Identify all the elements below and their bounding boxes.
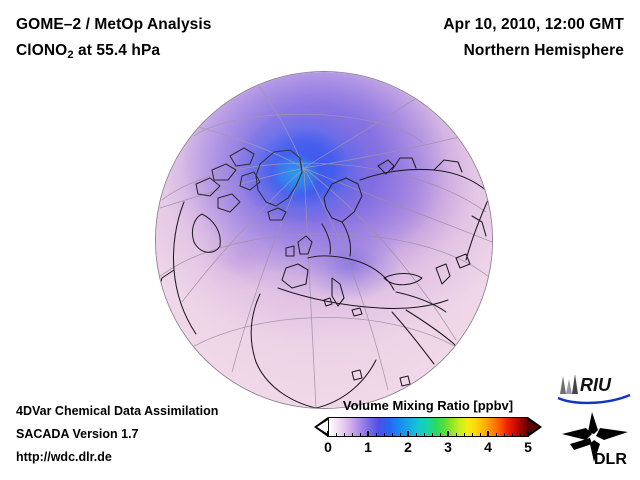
method-label: 4DVar Chemical Data Assimilation [16,404,218,418]
colorbar-tick-minor [392,433,393,437]
colorbar-tick-minor [496,433,497,437]
dlr-logo: DLR [560,410,632,468]
colorbar-tick-minor [360,433,361,437]
riu-wordmark: RIU [580,375,612,395]
timestamp-label: Apr 10, 2010, 12:00 GMT [443,16,624,34]
colorbar-tick-minor [472,433,473,437]
colorbar-gradient [328,417,528,437]
colorbar-tick-minor [376,433,377,437]
colorbar-tick-minor [520,433,521,437]
colorbar-tick-minor [352,433,353,437]
colorbar-tick-minor [336,433,337,437]
colorbar-tick-minor [400,433,401,437]
page-title-instrument: GOME–2 / MetOp Analysis [16,16,212,34]
colorbar-labels: 012345 [328,439,528,457]
riu-swoosh [558,395,630,403]
colorbar: Volume Mixing Ratio [ppbv] 012345 [314,398,542,437]
colorbar-row: 012345 [314,417,542,437]
colorbar-title: Volume Mixing Ratio [ppbv] [314,398,542,413]
colorbar-tick-minor [512,433,513,437]
page-title-species: ClONO2 at 55.4 hPa [16,42,160,61]
colorbar-tick-label: 5 [524,439,532,455]
colorbar-tick-minor [416,433,417,437]
globe-disc [156,72,492,408]
colorbar-tick-minor [456,433,457,437]
species-level: at 55.4 hPa [74,42,161,59]
colorbar-tick-major [407,431,409,437]
colorbar-tick-minor [344,433,345,437]
colorbar-tick-minor [504,433,505,437]
colorbar-extend-high-arrow [528,417,542,437]
colorbar-tick-label: 3 [444,439,452,455]
colorbar-tick-major [327,431,329,437]
colorbar-tick-major [527,431,529,437]
colorbar-tick-minor [440,433,441,437]
colorbar-tick-major [367,431,369,437]
species-name: ClONO [16,42,67,59]
dlr-wordmark: DLR [594,451,627,468]
riu-logo: RIU [556,372,632,406]
website-link[interactable]: http://wdc.dlr.de [16,450,112,464]
riu-tower-icon [560,374,578,394]
colorbar-extend-low-arrow [314,417,328,437]
version-label: SACADA Version 1.7 [16,427,139,441]
colorbar-tick-minor [464,433,465,437]
colorbar-tick-label: 2 [404,439,412,455]
colorbar-tick-minor [384,433,385,437]
region-label: Northern Hemisphere [464,42,624,60]
colorbar-tick-major [447,431,449,437]
colorbar-tick-minor [424,433,425,437]
colorbar-tick-label: 1 [364,439,372,455]
colorbar-tick-minor [432,433,433,437]
globe-highlight [156,72,492,408]
globe-map[interactable] [156,72,492,408]
colorbar-tick-major [487,431,489,437]
colorbar-tick-label: 4 [484,439,492,455]
colorbar-tick-minor [480,433,481,437]
colorbar-tick-label: 0 [324,439,332,455]
